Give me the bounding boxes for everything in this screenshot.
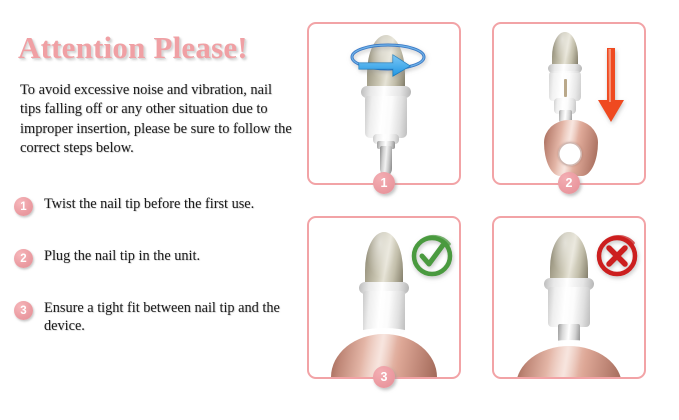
step-text: Twist the nail tip before the first use. [44,196,300,214]
panel-4-artwork [494,218,644,377]
tight-fit-illustration [309,218,459,377]
step-text: Plug the nail tip in the unit. [44,248,300,266]
panel-1-artwork [309,24,459,183]
instructions-column: Attention Please! To avoid excessive noi… [0,0,300,420]
step-number-badge: 3 [14,301,33,320]
intro-paragraph: To avoid excessive noise and vibration, … [20,81,292,158]
step-text: Ensure a tight fit between nail tip and … [44,300,300,335]
plastic-collar [365,96,407,138]
loose-fit-illustration [494,218,644,377]
list-item: 1 Twist the nail tip before the first us… [14,196,300,218]
panel-caption-badge: 2 [558,172,580,194]
panel-caption-badge: 1 [373,172,395,194]
illustration-panel-3: 3 [307,216,461,379]
plastic-collar [548,287,590,327]
rotate-arrow-icon [347,40,429,80]
panel-caption-badge: 3 [373,366,395,388]
steps-list: 1 Twist the nail tip before the first us… [14,196,300,335]
check-circle-icon [407,230,457,280]
list-item: 2 Plug the nail tip in the unit. [14,248,300,270]
illustration-panel-2: 2 [492,22,646,185]
panel-3-artwork [309,218,459,377]
illustration-panel-4 [492,216,646,379]
nail-tip-twist-illustration [309,24,459,183]
step-number-badge: 2 [14,249,33,268]
panel-2-artwork [494,24,644,183]
nail-tip-insert-illustration [494,24,644,183]
inner-pin [564,79,567,97]
step-number-badge: 1 [14,197,33,216]
illustration-panel-1: 1 [307,22,461,185]
down-arrow-icon [594,46,628,126]
list-item: 3 Ensure a tight fit between nail tip an… [14,300,300,335]
device-hole [558,142,582,166]
cross-circle-icon [592,230,642,280]
infographic-root: Attention Please! To avoid excessive noi… [0,0,679,420]
page-title: Attention Please! [18,30,248,66]
